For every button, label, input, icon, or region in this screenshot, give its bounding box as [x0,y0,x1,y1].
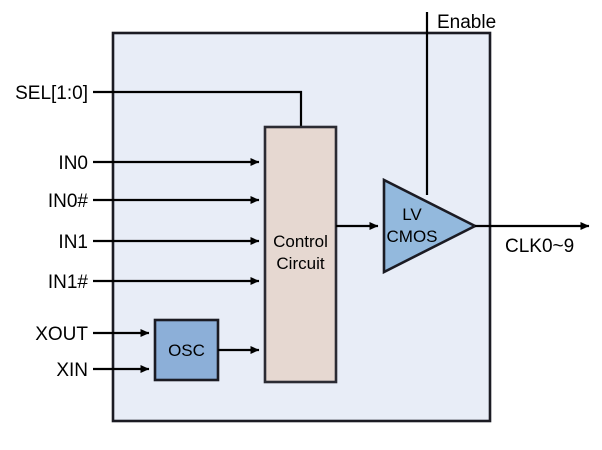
control-circuit-label-line2: Circuit [276,254,324,273]
in0n-label: IN0# [48,191,89,212]
control-circuit-label-line1: Control [273,232,328,251]
diagram-svg: Enable SEL[1:0] IN0 IN0# IN1 IN1# XOUT X… [0,0,602,450]
sel-label: SEL[1:0] [15,83,88,104]
osc-label: OSC [168,341,205,360]
xin-label: XIN [56,360,88,381]
enable-label: Enable [437,12,496,33]
lv-cmos-label-line1: LV [402,205,422,224]
in0-label: IN0 [58,153,88,174]
lv-cmos-label-line2: CMOS [387,227,438,246]
in1-label: IN1 [58,232,88,253]
in1n-label: IN1# [48,272,89,293]
block-diagram-canvas: Enable SEL[1:0] IN0 IN0# IN1 IN1# XOUT X… [0,0,602,450]
clk-output-label: CLK0~9 [505,236,574,257]
xout-label: XOUT [35,324,88,345]
